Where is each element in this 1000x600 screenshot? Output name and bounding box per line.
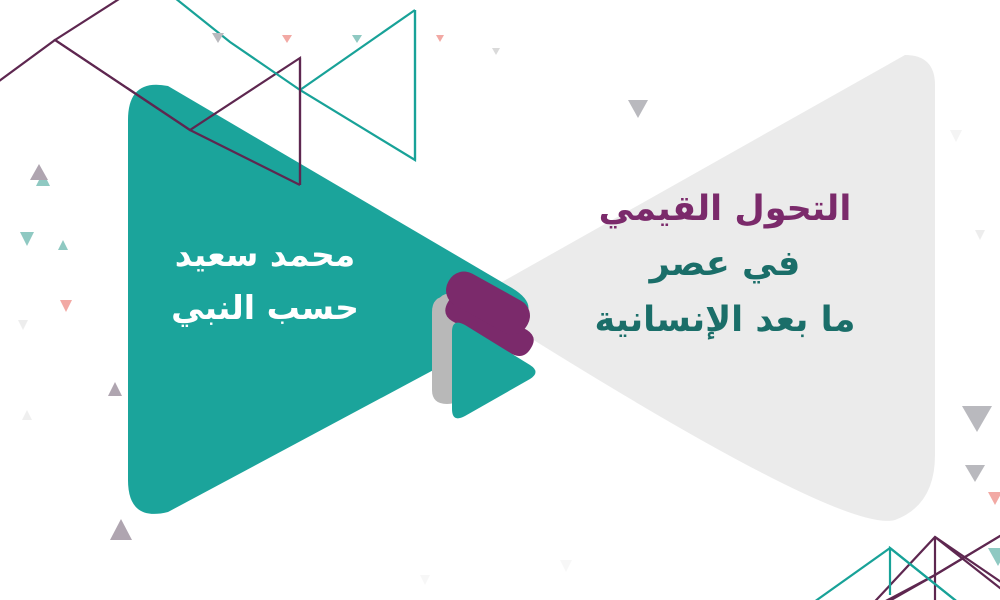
outline-triangle-cluster-bottomright: [800, 512, 1000, 600]
book-cover: محمد سعيد حسب النبي التحول القيمي في عصر…: [0, 0, 1000, 600]
cover-artwork: [0, 0, 1000, 600]
gray-panel-shape: [470, 55, 935, 521]
